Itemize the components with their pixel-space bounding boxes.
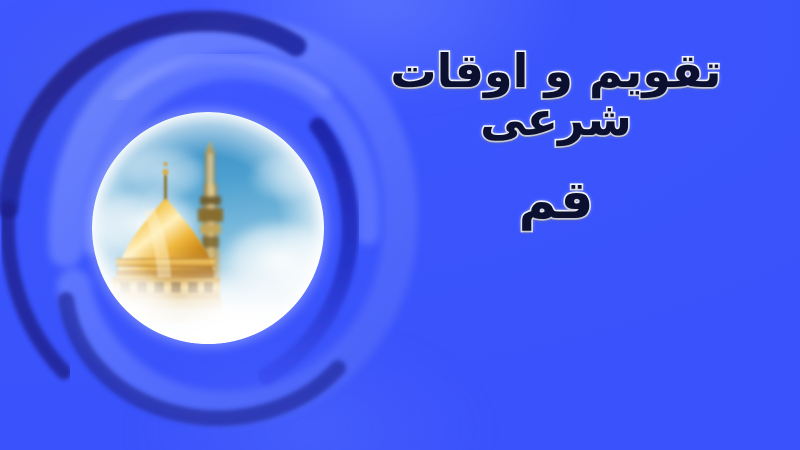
poster-canvas: تقویم و اوقات شرعی قم (0, 0, 800, 450)
title-block: تقویم و اوقات شرعی قم (330, 48, 782, 228)
photo-bottom-haze (92, 248, 324, 344)
page-title-line-1: تقویم و اوقات شرعی (330, 48, 782, 144)
page-title-line-2: قم (330, 174, 782, 228)
shrine-photo (92, 112, 324, 344)
